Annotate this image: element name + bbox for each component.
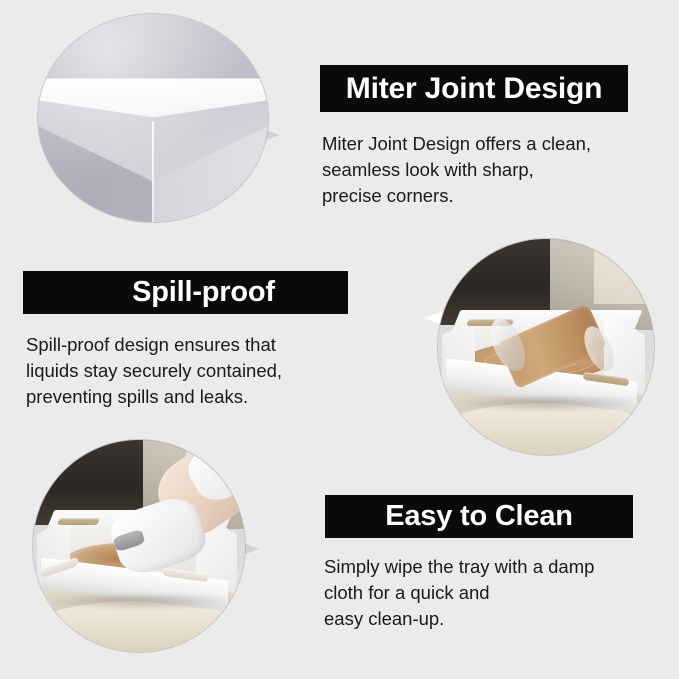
callout-miter-joint [38, 14, 288, 224]
feature-title-bar-miter-joint: Miter Joint Design [320, 65, 628, 112]
cleaning-scene [33, 440, 245, 652]
feature-body-spill-proof: Spill-proof design ensures that liquids … [26, 332, 366, 410]
tray-drop-shadow [451, 397, 642, 412]
tray-handle-slot [56, 518, 100, 525]
spill-scene [438, 239, 654, 455]
feature-title-bar-spill-proof: Spill-proof [23, 271, 348, 314]
callout-easy-to-clean [33, 440, 285, 654]
feature-body-miter-joint: Miter Joint Design offers a clean, seaml… [322, 131, 672, 209]
background-wall-light [594, 239, 654, 304]
feature-title-text: Spill-proof [132, 278, 275, 307]
feature-image-spill-proof [438, 239, 654, 455]
feature-title-text: Easy to Clean [385, 502, 573, 531]
tray-drop-shadow [45, 595, 232, 609]
feature-image-easy-to-clean [33, 440, 245, 652]
feature-title-text: Miter Joint Design [346, 74, 602, 104]
feature-title-bar-easy-to-clean: Easy to Clean [325, 495, 633, 538]
surface-sheen [38, 14, 268, 222]
infographic-page: Miter Joint Design Miter Joint Design of… [0, 0, 679, 679]
feature-body-easy-to-clean: Simply wipe the tray with a damp cloth f… [324, 554, 674, 632]
feature-image-miter-joint [38, 14, 268, 222]
callout-spill-proof [424, 239, 658, 457]
macro-corner-scene [38, 14, 268, 222]
